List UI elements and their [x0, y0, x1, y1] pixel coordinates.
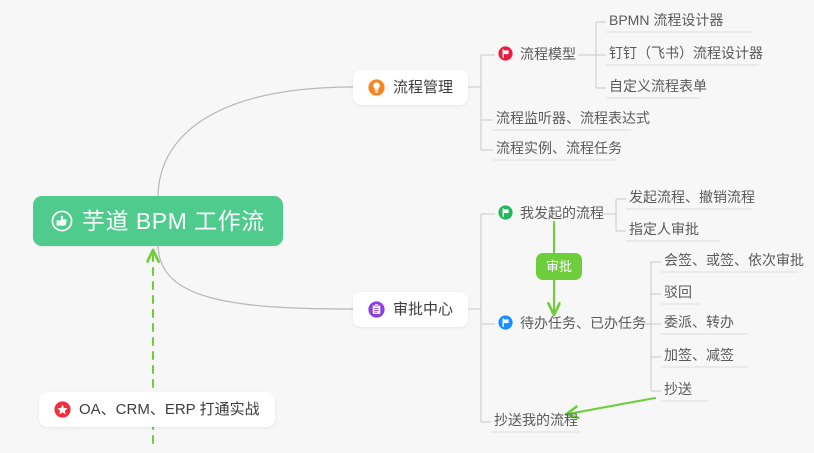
node-label-reject: 驳回: [664, 285, 692, 299]
node-label-process-listener-expression: 流程监听器、流程表达式: [496, 111, 650, 125]
node-label-delegate-transfer: 委派、转办: [664, 315, 734, 329]
node-label-countersign: 会签、或签、依次审批: [664, 253, 804, 267]
node-process-listener-expression[interactable]: 流程监听器、流程表达式: [493, 111, 653, 129]
root-node[interactable]: 芋道 BPM 工作流: [33, 196, 283, 246]
node-process-model[interactable]: 流程模型: [495, 46, 579, 65]
branch-label-process-management: 流程管理: [393, 80, 453, 95]
branch-label-approval-center: 审批中心: [393, 302, 453, 317]
process-management-connectors: [463, 55, 495, 150]
node-label-process-model: 流程模型: [520, 47, 576, 61]
node-start-cancel-process[interactable]: 发起流程、撤销流程: [626, 190, 758, 208]
node-delegate-transfer[interactable]: 委派、转办: [661, 315, 737, 333]
node-custom-process-form[interactable]: 自定义流程表单: [606, 79, 710, 97]
cc-flow-arrow: [568, 398, 655, 414]
flag-icon: [498, 315, 513, 330]
node-label-dingtalk-feishu-designer: 钉钉（飞书）流程设计器: [609, 46, 763, 60]
clipboard-icon: [368, 301, 385, 318]
thumbs-up-icon: [51, 210, 73, 232]
node-countersign[interactable]: 会签、或签、依次审批: [661, 253, 807, 271]
node-my-initiated-process[interactable]: 我发起的流程: [495, 205, 607, 224]
node-label-start-cancel-process: 发起流程、撤销流程: [629, 190, 755, 204]
lightbulb-icon: [368, 79, 385, 96]
process-model-connectors: [578, 22, 606, 88]
node-todo-done-tasks[interactable]: 待办任务、已办任务: [495, 315, 649, 334]
node-label-bpmn-designer: BPMN 流程设计器: [609, 13, 723, 27]
node-label-cc-to-me-process: 抄送我的流程: [494, 413, 578, 427]
floating-node-integration-practice[interactable]: OA、CRM、ERP 打通实战: [39, 392, 275, 427]
node-label-add-remove-sign: 加签、减签: [664, 348, 734, 362]
node-process-instance-task[interactable]: 流程实例、流程任务: [493, 141, 625, 159]
node-dingtalk-feishu-designer[interactable]: 钉钉（飞书）流程设计器: [606, 46, 766, 64]
node-label-cc: 抄送: [664, 382, 692, 396]
node-add-remove-sign[interactable]: 加签、减签: [661, 348, 737, 366]
node-label-my-initiated-process: 我发起的流程: [520, 206, 604, 220]
node-cc[interactable]: 抄送: [661, 382, 695, 400]
star-icon: [54, 401, 71, 418]
approval-annotation-label: 审批: [546, 260, 572, 273]
node-reject[interactable]: 驳回: [661, 285, 695, 303]
node-assignee-approval[interactable]: 指定人审批: [626, 222, 702, 240]
flag-icon: [498, 46, 513, 61]
approval-annotation-badge[interactable]: 审批: [536, 253, 582, 280]
branch-node-process-management[interactable]: 流程管理: [353, 70, 468, 105]
floating-label-integration-practice: OA、CRM、ERP 打通实战: [79, 402, 260, 417]
node-bpmn-designer[interactable]: BPMN 流程设计器: [606, 13, 726, 31]
mindmap-canvas: 芋道 BPM 工作流 流程管理 流程模型 BPMN 流程设计器 钉: [0, 0, 814, 453]
node-label-assignee-approval: 指定人审批: [629, 222, 699, 236]
flag-icon: [498, 205, 513, 220]
node-label-todo-done-tasks: 待办任务、已办任务: [520, 316, 646, 330]
node-label-custom-process-form: 自定义流程表单: [609, 79, 707, 93]
branch-node-approval-center[interactable]: 审批中心: [353, 292, 468, 327]
node-label-process-instance-task: 流程实例、流程任务: [496, 141, 622, 155]
root-label: 芋道 BPM 工作流: [82, 210, 265, 233]
node-cc-to-me-process[interactable]: 抄送我的流程: [491, 413, 581, 431]
